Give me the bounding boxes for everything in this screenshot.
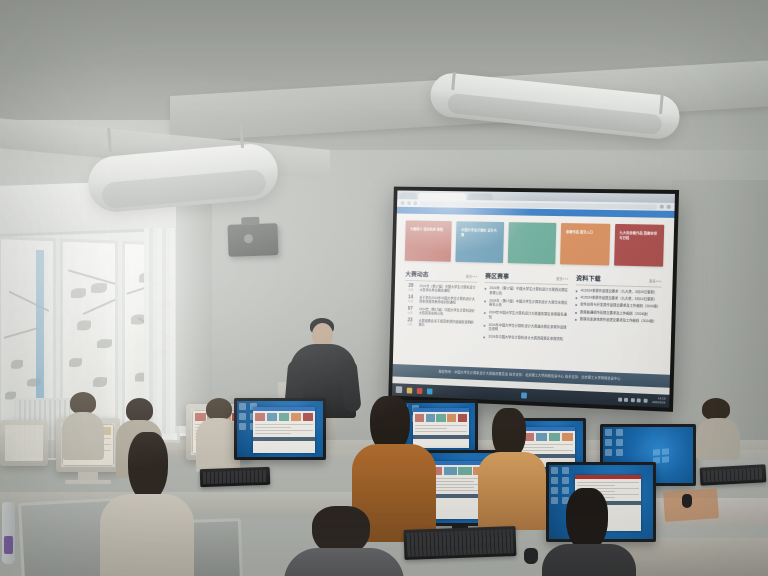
mouse-front[interactable] (524, 548, 538, 564)
news-text: 大赛组委会关于规范参赛作品版权说明的提示 (419, 319, 477, 329)
news-date: 23 12月 (404, 318, 416, 327)
tile-label: 九大类参赛作品 国赛安排与日程 (619, 231, 660, 242)
bullet-icon (485, 300, 487, 302)
crt-monitor-left-3 (0, 420, 48, 466)
tile-label (513, 229, 552, 230)
browser-tab[interactable] (400, 192, 417, 199)
student-hair (206, 398, 232, 420)
list-item[interactable]: 2024年中国大学生计算机设计大赛重庆赛区参赛作品提交说明 (484, 323, 567, 335)
news-item[interactable]: 23 12月 大赛组委会关于规范参赛作品版权说明的提示 (404, 318, 477, 329)
column-header: 赛区赛事 更多+++ (485, 271, 569, 285)
wall-pillar (176, 176, 212, 426)
news-text: 2024年（第17届）中国大学生计算机设计大赛赛事安排公告 (419, 307, 477, 317)
tile-4[interactable]: 九大类参赛作品 国赛安排与日程 (614, 224, 665, 267)
news-date: 28 02月 (405, 284, 417, 293)
competition-website: 大赛简介 组织机构 章程 中国大学生计算机 设计大赛 参赛作品 提交入口 九大类… (393, 213, 675, 387)
download-text: 数媒普通组作品提交要求及工作细则（2024版） (580, 310, 650, 317)
bullet-icon (575, 304, 577, 306)
student-left-1 (62, 392, 104, 456)
list-item-text: 2024年中国大学生计算机设计大赛重庆赛区参赛作品提交说明 (488, 323, 567, 335)
projection-screen: 大赛简介 组织机构 章程 中国大学生计算机 设计大赛 参赛作品 提交入口 九大类… (388, 187, 679, 412)
student-body (542, 544, 636, 576)
news-date: 14 01月 (404, 295, 416, 304)
classroom-photo: 大赛简介 组织机构 章程 中国大学生计算机 设计大赛 参赛作品 提交入口 九大类… (0, 0, 768, 576)
download-item[interactable]: 4C2024参赛作品提交要求（九大类，5月10日更新） (576, 295, 662, 302)
app-icon[interactable] (521, 392, 527, 398)
column-downloads: 资料下载 更多+++ 4C2024参赛作品提交要求（九大类，3月29日更新） 4… (574, 274, 662, 349)
more-link[interactable]: 更多+++ (556, 276, 568, 281)
tile-row: 大赛简介 组织机构 章程 中国大学生计算机 设计大赛 参赛作品 提交入口 九大类… (395, 213, 674, 271)
column-header: 大赛动态 更多+++ (405, 269, 478, 282)
bullet-icon (576, 290, 578, 292)
windows-logo-icon (653, 449, 669, 464)
column-news: 大赛动态 更多+++ 28 02月 2024年（第17届）中国大学生计算机设计大… (404, 269, 478, 342)
up-arrow-icon[interactable] (618, 397, 622, 401)
student-body (478, 452, 546, 530)
list-item[interactable]: 2024年（第17届）中国大学生计算机设计大赛华东赛区报名公告 (484, 298, 567, 309)
student-far-right (696, 398, 740, 456)
monitor-back-center (234, 398, 326, 460)
download-item[interactable]: 软件应用与开发类作品提交要求及工作细则（2024版） (575, 302, 661, 309)
news-item[interactable]: 07 01月 2024年（第17届）中国大学生计算机设计大赛赛事安排公告 (404, 307, 477, 318)
back-icon[interactable] (401, 201, 405, 205)
student-bottom-center (292, 506, 396, 576)
browser-tab-active[interactable] (418, 193, 466, 200)
keyboard-left[interactable] (200, 467, 271, 487)
student-right-1 (480, 408, 542, 518)
bullet-icon (575, 312, 577, 314)
student-ponytail (128, 432, 168, 502)
water-bottle (2, 502, 15, 564)
speaker-bracket (241, 217, 259, 226)
download-item[interactable]: 数媒动漫游戏类作品提交要求及工作细则（2024版） (575, 317, 661, 324)
news-text: 关于举办2024年中国大学生计算机设计大赛参赛指导教师培训的通知 (419, 296, 477, 306)
star-icon[interactable] (660, 205, 664, 209)
reload-icon[interactable] (414, 201, 418, 205)
list-item[interactable]: 2024年中国大学生计算机设计大赛西南赛区参赛须知 (484, 335, 567, 342)
list-item-text: 2024年（第17届）中国大学生计算机设计大赛西北赛区参赛公告 (489, 286, 568, 297)
student-body (696, 418, 740, 460)
tile-0[interactable]: 大赛简介 组织机构 章程 (405, 220, 452, 261)
news-month: 01月 (404, 312, 416, 315)
edge-icon[interactable] (427, 388, 433, 394)
ime-icon[interactable] (637, 398, 641, 402)
bullet-icon (484, 312, 486, 314)
student-hair (70, 392, 96, 414)
tile-2[interactable] (508, 222, 557, 264)
news-item[interactable]: 28 02月 2024年（第17届）中国大学生计算机设计大赛承办单位确定通知 (405, 284, 478, 294)
menu-icon[interactable] (667, 205, 671, 209)
clock-date: 2024/3/26 (652, 400, 665, 405)
column-title: 资料下载 (576, 274, 601, 284)
download-text: 4C2024参赛作品提交要求（九大类，5月10日更新） (580, 296, 657, 303)
mini-content (253, 423, 315, 437)
more-link[interactable]: 更多+++ (649, 278, 662, 283)
mini-webpage (253, 407, 315, 453)
bullet-icon (485, 288, 487, 290)
mini-footer (253, 437, 315, 441)
news-month: 01月 (405, 300, 417, 303)
speaker-cone (244, 234, 253, 243)
student-hair (126, 398, 153, 422)
mouse[interactable] (682, 494, 692, 508)
tile-label: 中国大学生计算机 设计大赛 (461, 228, 500, 238)
system-tray[interactable] (618, 397, 647, 402)
bullet-icon (576, 297, 578, 299)
keyboard-front-center[interactable] (404, 526, 517, 560)
keyboard-right[interactable] (700, 464, 767, 485)
news-date: 07 01月 (404, 307, 416, 316)
list-item-text: 2024年中国大学生计算机设计大赛西南赛区参赛须知 (488, 335, 563, 342)
news-month: 02月 (405, 289, 417, 292)
student-body (62, 412, 104, 460)
taskbar-clock[interactable]: 14:29 2024/3/26 (652, 397, 665, 404)
list-item[interactable]: 2024年中国大学生计算机设计大赛重庆赛区参赛报名通知 (484, 310, 567, 322)
monitor-screen (237, 401, 323, 457)
content-columns: 大赛动态 更多+++ 28 02月 2024年（第17届）中国大学生计算机设计大… (393, 265, 672, 349)
list-item[interactable]: 2024年（第17届）中国大学生计算机设计大赛西北赛区参赛公告 (485, 286, 568, 297)
news-text: 2024年（第17届）中国大学生计算机设计大赛承办单位确定通知 (419, 284, 477, 294)
bullet-icon (484, 324, 486, 326)
browser-icon[interactable] (417, 388, 423, 394)
desktop-icons[interactable] (605, 429, 625, 456)
download-text: 数媒动漫游戏类作品提交要求及工作细则（2024版） (580, 317, 657, 324)
battery-icon[interactable] (643, 398, 647, 402)
column-header: 资料下载 更多+++ (576, 274, 662, 288)
bullet-icon (484, 337, 486, 339)
column-regional: 赛区赛事 更多+++ 2024年（第17届）中国大学生计算机设计大赛西北赛区参赛… (483, 271, 568, 345)
more-link[interactable]: 更多+++ (466, 274, 478, 279)
download-item[interactable]: 4C2024参赛作品提交要求（九大类，3月29日更新） (576, 288, 662, 295)
browser-tab[interactable] (468, 193, 492, 200)
footer-text: 版权所有：中国大学生计算机设计大赛组织委员会 技术支持：北京理工大学网络信息中心… (400, 368, 662, 383)
wall-speaker (227, 223, 278, 257)
download-text: 4C2024参赛作品提交要求（九大类，3月29日更新） (581, 288, 658, 295)
windows-start-icon[interactable] (396, 386, 403, 393)
student-front-left (104, 436, 190, 576)
tile-1[interactable]: 中国大学生计算机 设计大赛 (456, 221, 504, 263)
list-item-text: 2024年（第17届）中国大学生计算机设计大赛华东赛区报名公告 (489, 298, 568, 309)
download-text: 软件应用与开发类作品提交要求及工作细则（2024版） (580, 303, 660, 310)
volume-icon[interactable] (631, 398, 635, 402)
column-title: 大赛动态 (405, 269, 429, 278)
column-title: 赛区赛事 (485, 271, 509, 280)
projection-screen-content: 大赛简介 组织机构 章程 中国大学生计算机 设计大赛 参赛作品 提交入口 九大类… (392, 190, 675, 407)
network-icon[interactable] (624, 397, 628, 401)
student-right-2 (548, 488, 628, 576)
bullet-icon (575, 319, 577, 321)
bottle-label (4, 536, 13, 554)
student-ponytail (566, 488, 608, 552)
crt-screen (5, 425, 43, 461)
news-month: 12月 (404, 323, 416, 326)
tile-3[interactable]: 参赛作品 提交入口 (560, 223, 610, 265)
mini-tile-row (253, 411, 315, 423)
list-item-text: 2024年中国大学生计算机设计大赛重庆赛区参赛报名通知 (489, 310, 568, 321)
student-body (100, 494, 194, 576)
tile-label: 大赛简介 组织机构 章程 (410, 227, 448, 233)
tile-label: 参赛作品 提交入口 (566, 230, 606, 236)
folder-icon[interactable] (407, 387, 413, 393)
forward-icon[interactable] (407, 201, 411, 205)
download-item[interactable]: 数媒普通组作品提交要求及工作细则（2024版） (575, 310, 661, 317)
student-body (284, 548, 404, 576)
student-hair (702, 398, 730, 420)
news-item[interactable]: 14 01月 关于举办2024年中国大学生计算机设计大赛参赛指导教师培训的通知 (404, 295, 477, 306)
